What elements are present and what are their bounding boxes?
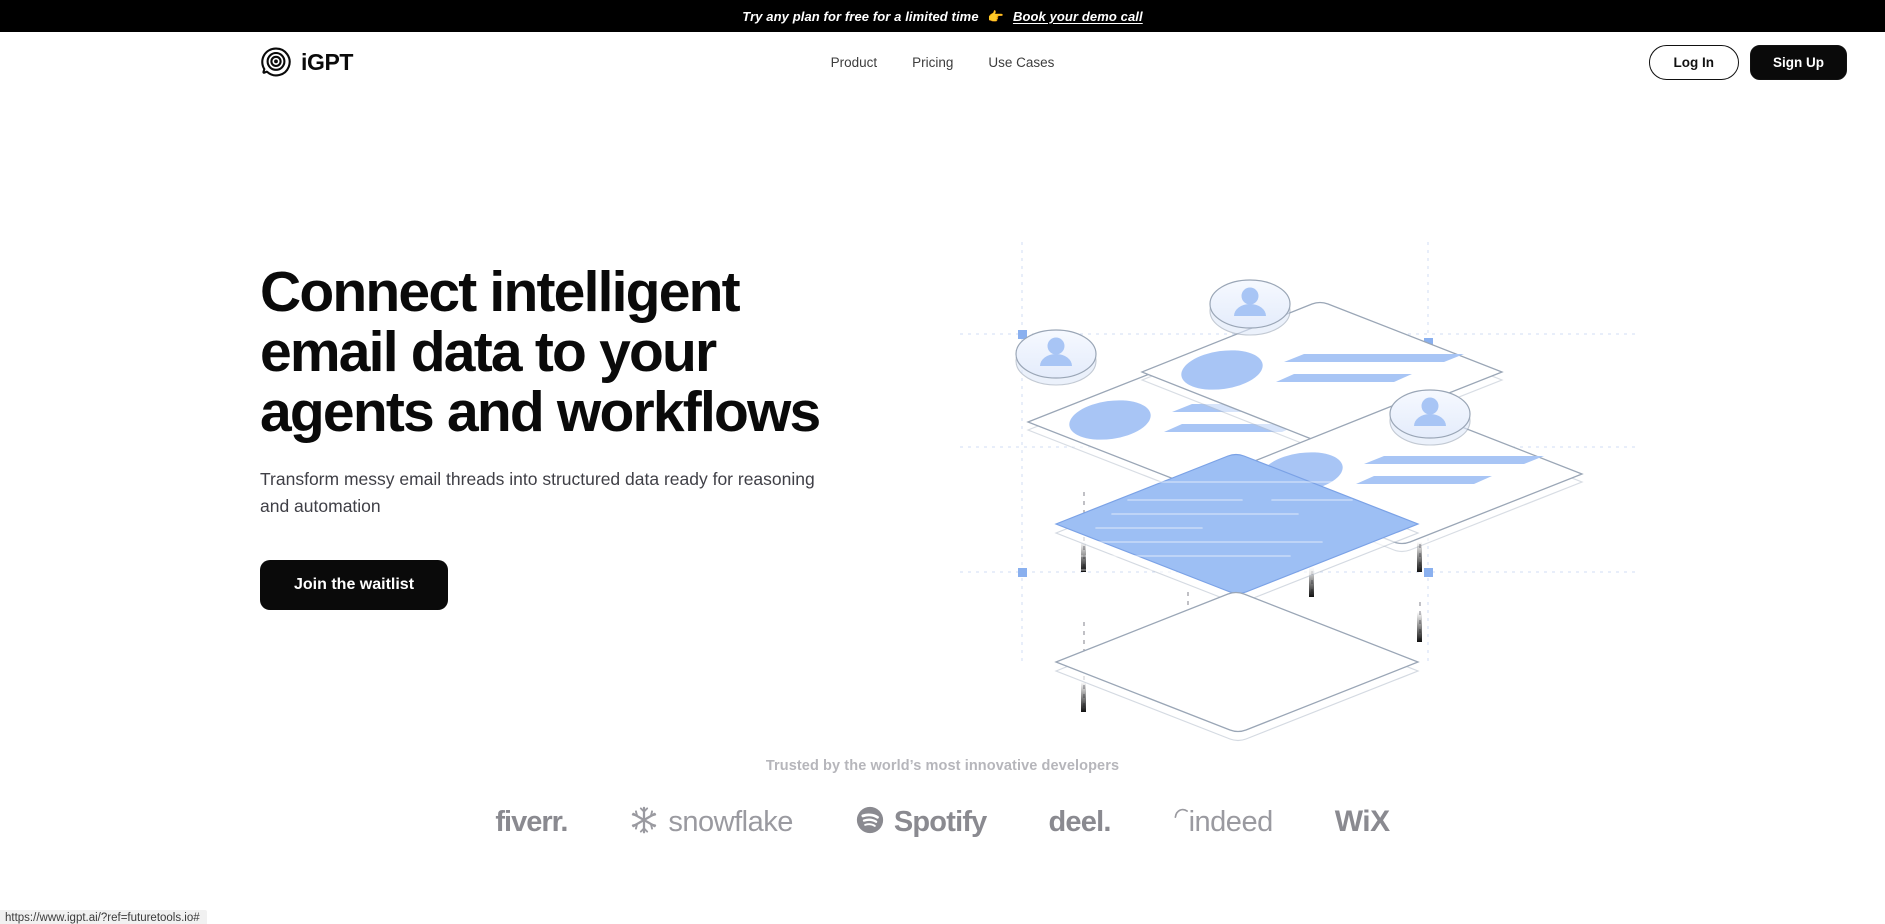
join-waitlist-button[interactable]: Join the waitlist [260,560,448,610]
pointing-right-hand-icon: 👉 [988,10,1004,23]
promo-banner-text: Try any plan for free for a limited time [742,9,978,24]
social-proof-title: Trusted by the world’s most innovative d… [0,758,1885,774]
logo-wix-label: WiX [1335,807,1390,837]
avatar-bubble-icon [1210,280,1290,335]
brand-name: iGPT [301,49,353,76]
logo-fiverr: fiverr. [495,800,567,844]
hero-subtitle: Transform messy email threads into struc… [260,466,820,520]
log-in-button[interactable]: Log In [1649,45,1740,80]
isometric-layered-email-data-planes [960,242,1640,762]
hero-title: Connect intelligent email data to your a… [260,262,880,442]
spotify-icon [855,805,885,840]
logo-indeed: indeed [1173,800,1273,844]
avatar-bubble-icon [1390,390,1470,445]
logo-deel: deel. [1049,800,1111,844]
site-header: iGPT Product Pricing Use Cases Log In Si… [0,32,1885,92]
nav-link-product[interactable]: Product [831,55,878,70]
auth-actions: Log In Sign Up [1649,45,1848,80]
promo-banner: Try any plan for free for a limited time… [0,0,1885,32]
igpt-spiral-speech-bubble-icon [260,46,292,78]
base-plane [1056,593,1418,741]
social-proof-section: Trusted by the world’s most innovative d… [0,758,1885,844]
indeed-swoosh-icon [1173,805,1189,840]
nav-link-pricing[interactable]: Pricing [912,55,953,70]
logo-indeed-label: indeed [1189,808,1273,837]
hero-section: Connect intelligent email data to your a… [0,92,1885,732]
logo-spotify: Spotify [855,800,987,844]
logo-wix: WiX [1335,800,1390,844]
sign-up-button[interactable]: Sign Up [1750,45,1847,80]
snowflake-icon [629,805,659,840]
nav-link-use-cases[interactable]: Use Cases [988,55,1054,70]
logo-fiverr-label: fiverr. [495,808,567,837]
avatar-bubble-icon [1016,330,1096,385]
logo-deel-label: deel. [1049,808,1111,837]
logo-spotify-label: Spotify [894,808,987,837]
brand-logo[interactable]: iGPT [260,46,353,78]
customer-logo-strip: fiverr. snowflake [0,800,1885,844]
hero-copy: Connect intelligent email data to your a… [260,262,880,610]
browser-status-bar-url: https://www.igpt.ai/?ref=futuretools.io# [0,910,207,924]
logo-snowflake-label: snowflake [668,808,792,837]
book-demo-call-link[interactable]: Book your demo call [1013,9,1143,24]
logo-snowflake: snowflake [629,800,792,844]
